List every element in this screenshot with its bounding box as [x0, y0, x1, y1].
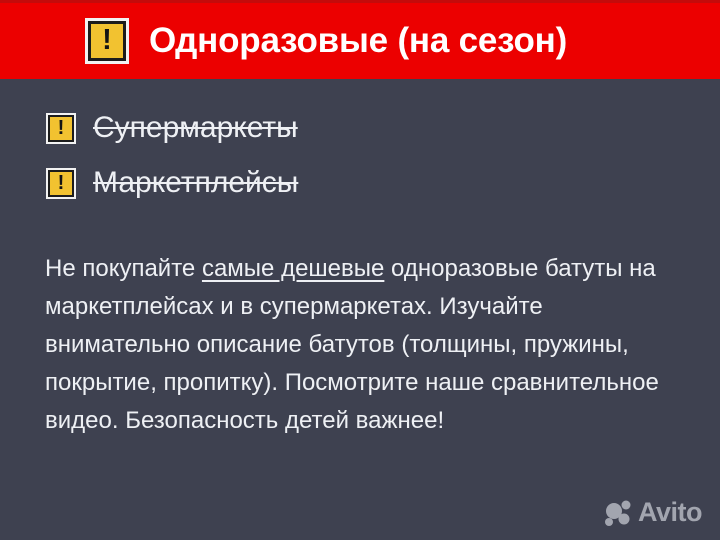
exclamation-glyph: !	[50, 172, 72, 195]
body-paragraph: Не покупайте самые дешевые одноразовые б…	[45, 250, 685, 440]
exclamation-glyph: !	[50, 117, 72, 140]
header-banner: ! Одноразовые (на сезон)	[0, 0, 720, 79]
avito-watermark: Avito	[605, 497, 702, 528]
list-item-label: Супермаркеты	[93, 111, 298, 145]
body-lead-text: Не покупайте	[45, 255, 202, 282]
exclamation-glyph: !	[91, 24, 123, 58]
body-emphasis-text: самые дешевые	[202, 255, 384, 282]
list-item-label: Маркетплейсы	[93, 166, 298, 200]
avito-brand-text: Avito	[638, 497, 702, 528]
page-title: Одноразовые (на сезон)	[149, 21, 567, 61]
warning-list: ! Супермаркеты ! Маркетплейсы	[48, 108, 668, 218]
slide-canvas: ! Одноразовые (на сезон) ! Супермаркеты …	[0, 0, 720, 540]
warning-exclamation-icon: !	[48, 115, 74, 142]
avito-dots-logo	[605, 500, 635, 526]
list-item: ! Маркетплейсы	[48, 163, 668, 203]
warning-exclamation-icon: !	[48, 170, 74, 197]
list-item: ! Супермаркеты	[48, 108, 668, 148]
warning-exclamation-icon: !	[88, 21, 126, 61]
